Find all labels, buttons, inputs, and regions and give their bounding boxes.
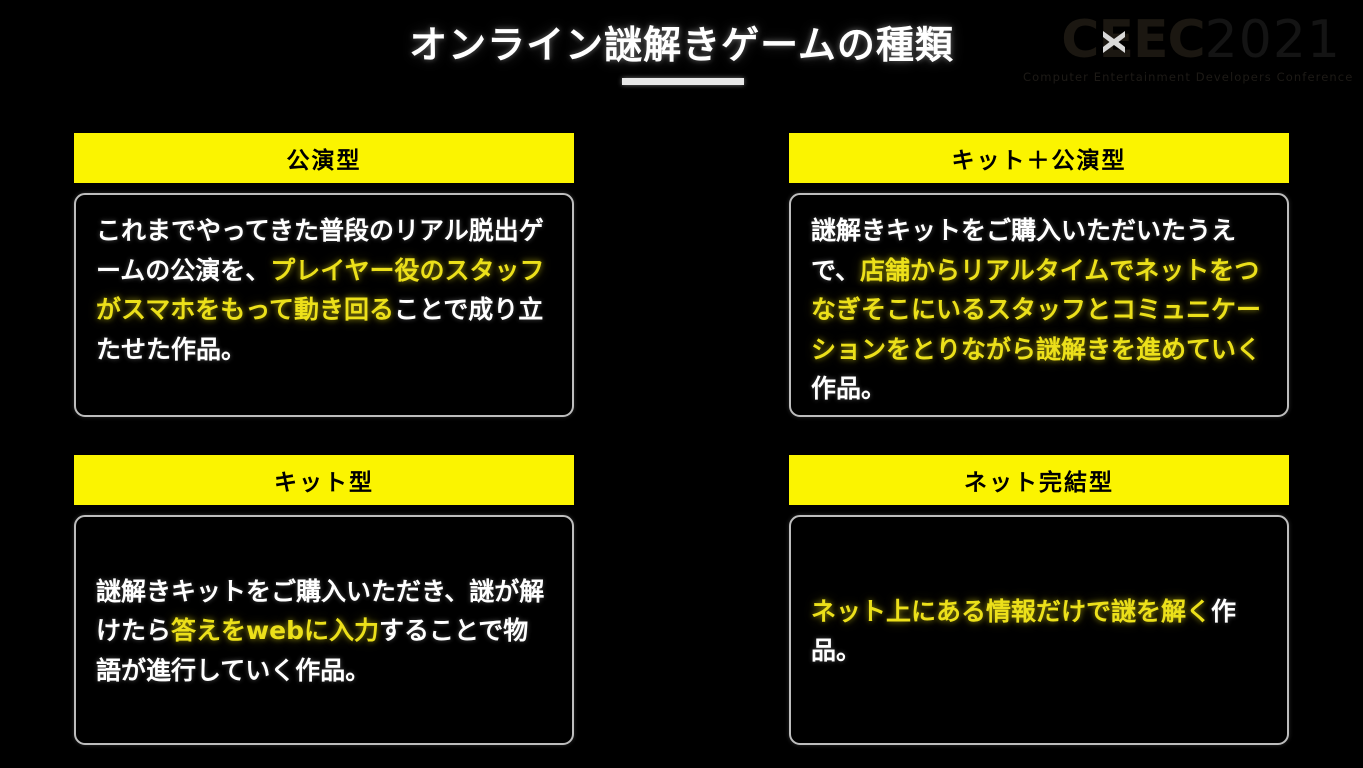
card-kit-performance-body: 謎解きキットをご購入いただいたうえで、店舗からリアルタイムでネットをつなぎそこに…	[789, 193, 1289, 417]
slide-root: オンライン謎解きゲームの種類 CEEC2021 Computer Enterta…	[0, 0, 1363, 768]
text-segment-highlight: 答えをwebに入力	[171, 616, 379, 645]
title-underline	[622, 78, 744, 85]
card-kit: キット型 謎解きキットをご購入いただき、謎が解けたら答えをwebに入力することで…	[74, 455, 574, 745]
card-performance-header: 公演型	[74, 133, 574, 183]
x-cross-icon	[1096, 24, 1132, 60]
page-title: オンライン謎解きゲームの種類	[409, 22, 954, 70]
cedec-tagline: Computer Entertainment Developers Confer…	[1023, 72, 1341, 84]
card-kit-performance-header: キット＋公演型	[789, 133, 1289, 183]
card-performance: 公演型 これまでやってきた普段のリアル脱出ゲームの公演を、プレイヤー役のスタッフ…	[74, 133, 574, 417]
card-performance-body: これまでやってきた普段のリアル脱出ゲームの公演を、プレイヤー役のスタッフがスマホ…	[74, 193, 574, 417]
card-online-only-header: ネット完結型	[789, 455, 1289, 505]
cedec-wordmark: CEEC2021	[1023, 14, 1341, 66]
text-segment-highlight: ネット上にある情報だけで謎を解く	[811, 597, 1211, 626]
card-kit-body: 謎解きキットをご購入いただき、謎が解けたら答えをwebに入力することで物語が進行…	[74, 515, 574, 745]
cedec-year: 2021	[1205, 10, 1341, 70]
text-segment-highlight: 店舗からリアルタイムでネットをつなぎそこにいるスタッフとコミュニケーションをとり…	[811, 256, 1261, 364]
cedec-logo: CEEC2021 Computer Entertainment Develope…	[1023, 14, 1341, 92]
card-kit-text: 謎解きキットをご購入いただき、謎が解けたら答えをwebに入力することで物語が進行…	[96, 572, 552, 691]
card-online-only: ネット完結型 ネット上にある情報だけで謎を解く作品。	[789, 455, 1289, 745]
text-segment: 作品。	[811, 374, 886, 403]
card-kit-header: キット型	[74, 455, 574, 505]
cedec-mark-right: EC	[1133, 10, 1205, 70]
card-online-only-text: ネット上にある情報だけで謎を解く作品。	[811, 592, 1267, 671]
card-kit-performance-text: 謎解きキットをご購入いただいたうえで、店舗からリアルタイムでネットをつなぎそこに…	[811, 211, 1267, 409]
card-performance-text: これまでやってきた普段のリアル脱出ゲームの公演を、プレイヤー役のスタッフがスマホ…	[96, 211, 552, 369]
card-kit-performance: キット＋公演型 謎解きキットをご購入いただいたうえで、店舗からリアルタイムでネッ…	[789, 133, 1289, 417]
card-online-only-body: ネット上にある情報だけで謎を解く作品。	[789, 515, 1289, 745]
